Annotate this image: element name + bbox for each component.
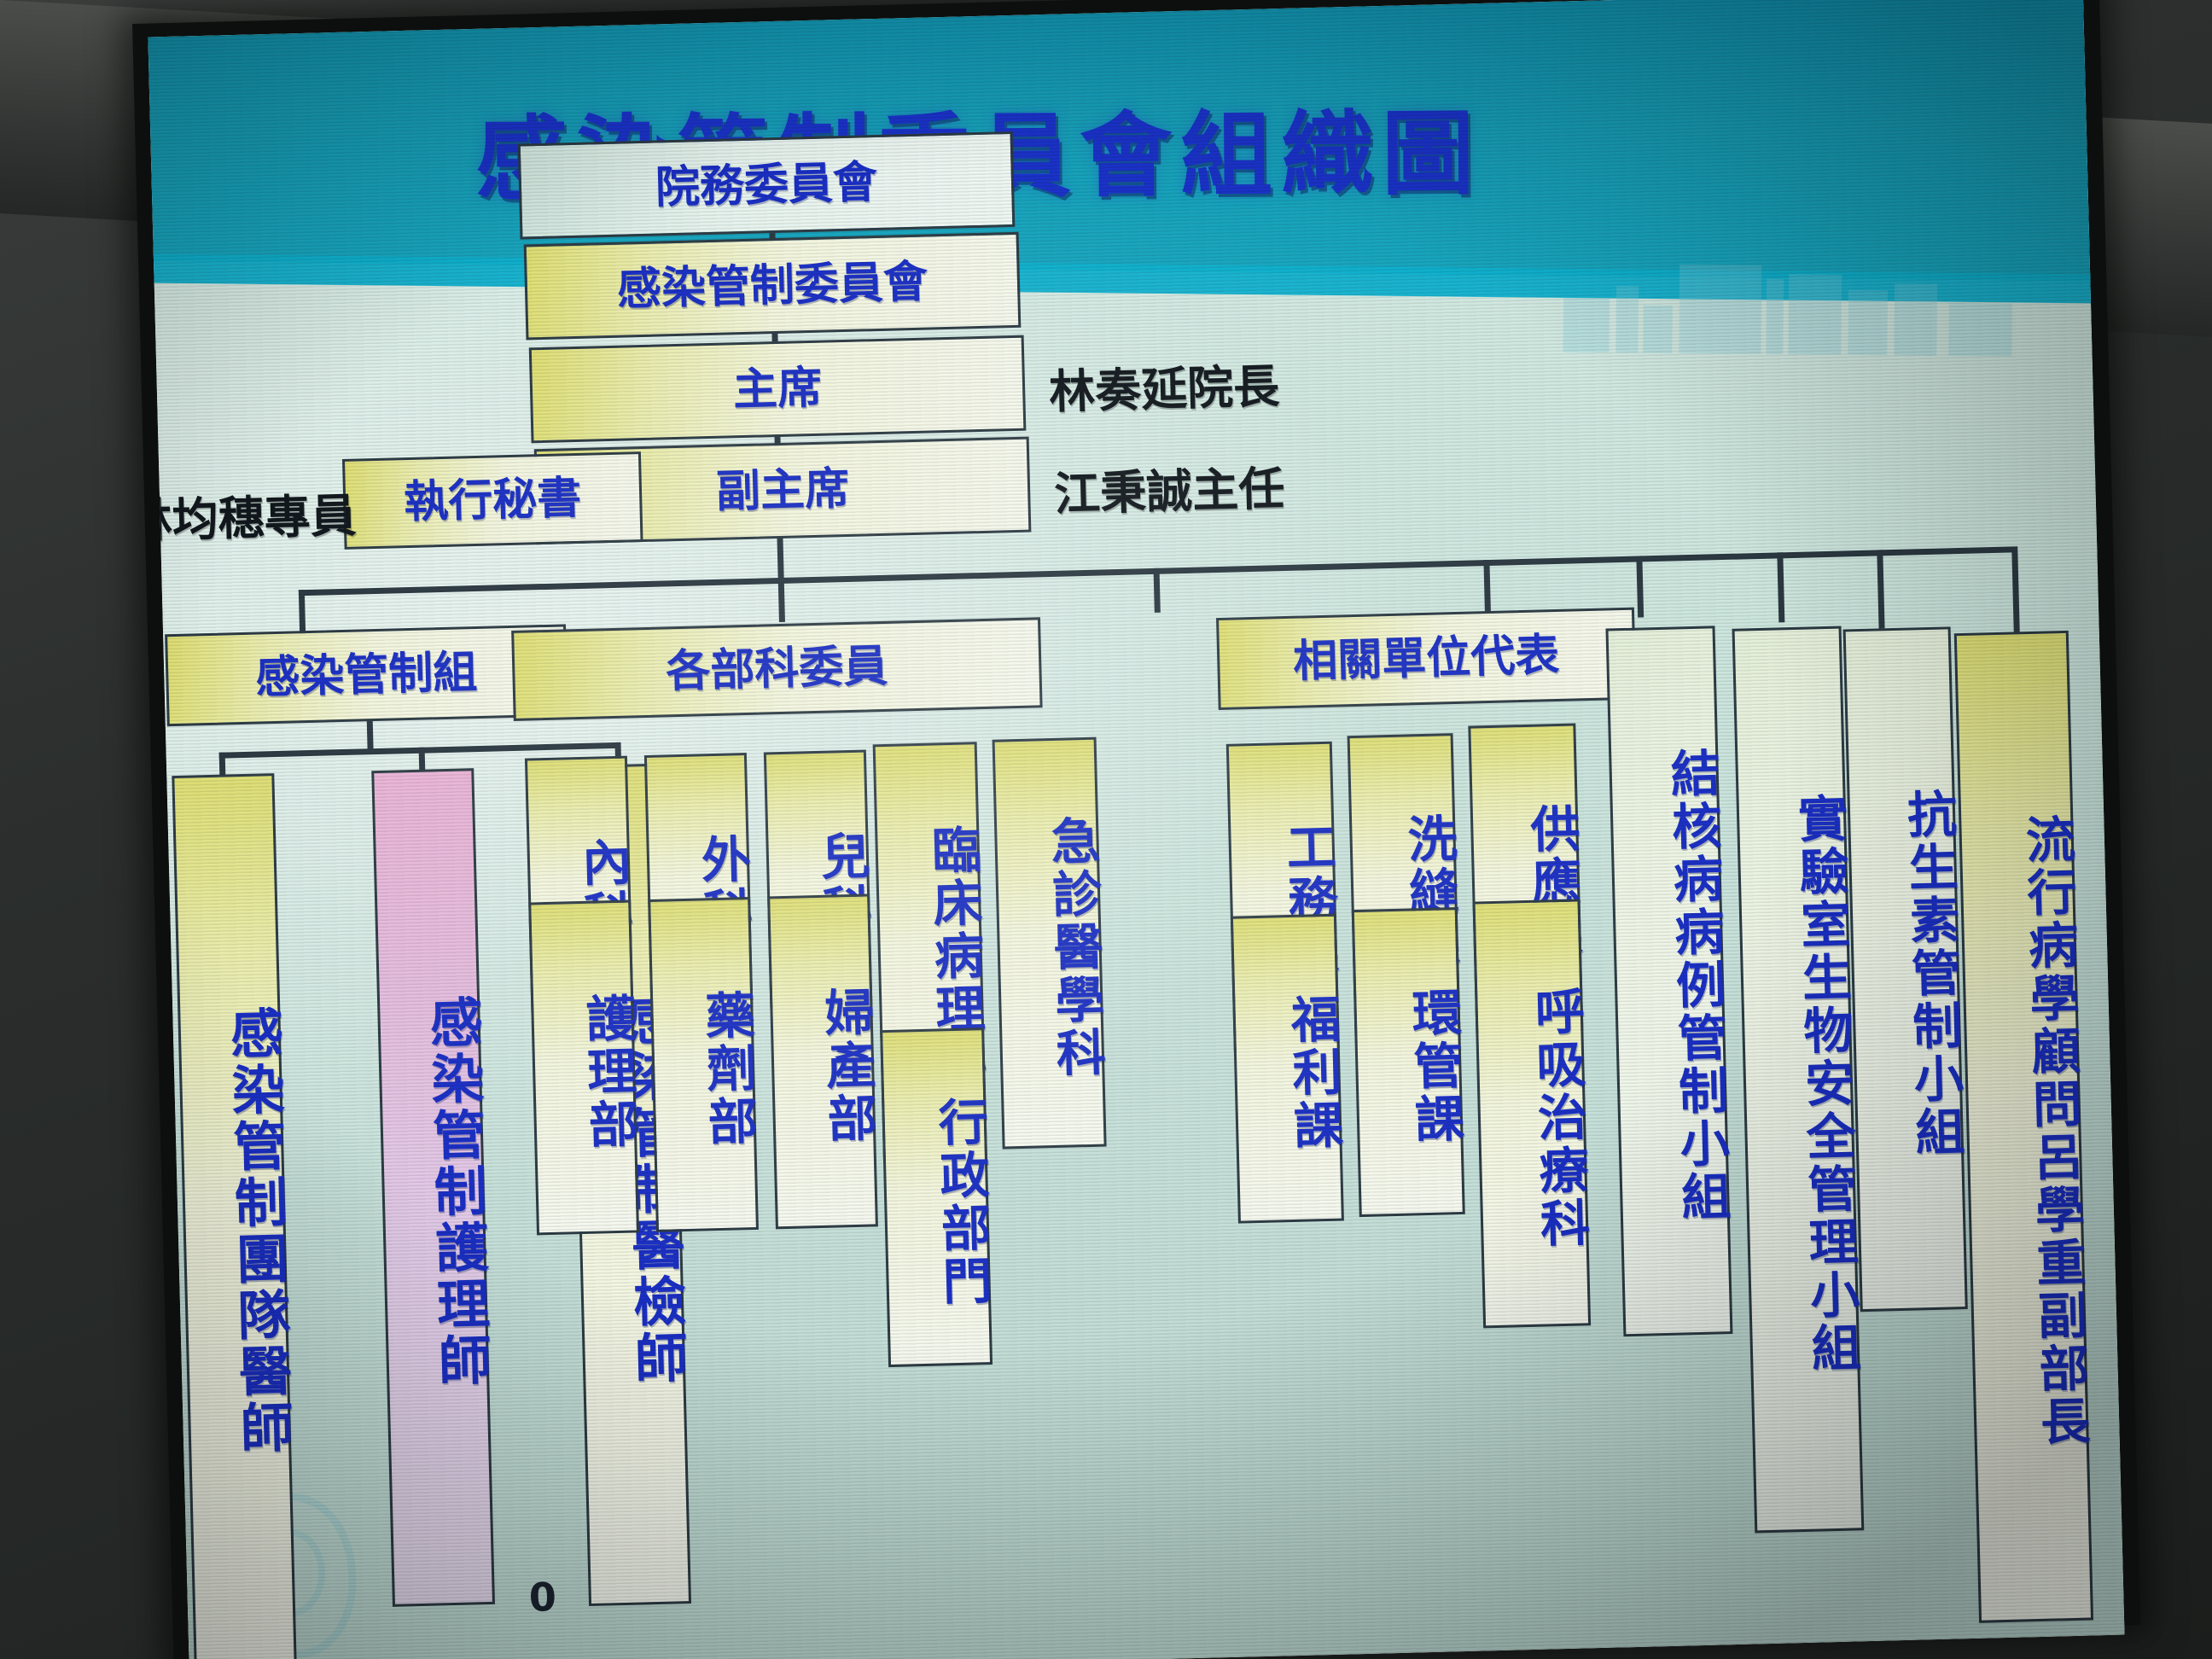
node-label: 院務委員會 (655, 158, 877, 213)
connector-line (367, 719, 374, 750)
node-label: 行政部門 (934, 1096, 988, 1308)
node-label: 各部科委員 (666, 642, 888, 697)
node-label: 流行病學顧問呂學重副部長 (2021, 813, 2087, 1449)
node-label: 呼吸治療科 (1530, 985, 1586, 1250)
connector-line (1483, 560, 1491, 613)
skyline-watermark-icon (1554, 250, 2016, 357)
node-label: 感染管制委員會 (616, 257, 928, 314)
node-label: 結核病病例管制小組 (1666, 747, 1727, 1224)
executive-secretary-name: 林均穗專員 (148, 478, 357, 551)
node-label: 抗生素管制小組 (1902, 788, 1961, 1159)
node-ic-team-physician[interactable]: 感染管制團隊醫師 (172, 773, 297, 1659)
node-label: 主席 (732, 364, 822, 416)
node-label: 福利課 (1286, 993, 1340, 1153)
vice-chairperson-name: 江秉誠主任 (1053, 451, 1285, 524)
connector-line (1636, 556, 1644, 617)
node-respiratory-therapy[interactable]: 呼吸治療科 (1473, 899, 1592, 1328)
node-label: 執行秘書 (404, 474, 582, 527)
node-related-unit-representatives[interactable]: 相關單位代表 (1216, 608, 1637, 710)
node-pharmacy-department[interactable]: 藥劑部 (648, 897, 759, 1232)
node-ic-nurse[interactable]: 感染管制護理師 (371, 768, 495, 1607)
connector-line (777, 537, 783, 579)
connector-line (1777, 552, 1784, 622)
node-tuberculosis-case-control-group[interactable]: 結核病病例管制小組 (1605, 626, 1732, 1336)
node-obstetrics-gynecology[interactable]: 婦產部 (767, 894, 878, 1229)
node-infection-control-division[interactable]: 感染管制組 (165, 624, 568, 726)
node-label: 感染管制團隊醫師 (224, 1005, 288, 1457)
connector-line (299, 590, 306, 634)
node-label: 藥劑部 (701, 989, 754, 1149)
node-label: 急診醫學科 (1046, 815, 1103, 1080)
connector-line (219, 753, 226, 777)
node-label: 感染管制組 (255, 648, 478, 703)
node-antibiotic-control-group[interactable]: 抗生素管制小組 (1843, 626, 1968, 1312)
slide-surface: 感染管制委員會組織圖 院務委員會 感染管制委員會 主席 林奏延院長 (148, 0, 2124, 1659)
node-label: 環管課 (1407, 987, 1461, 1146)
node-chairperson[interactable]: 主席 (529, 335, 1027, 444)
node-label: 相關單位代表 (1293, 631, 1560, 687)
node-emergency-medicine[interactable]: 急診醫學科 (992, 737, 1107, 1150)
node-label: 副主席 (715, 464, 849, 517)
projection-screen: 感染管制委員會組織圖 院務委員會 感染管制委員會 主席 林奏延院長 (148, 0, 2124, 1659)
node-executive-secretary[interactable]: 執行秘書 (342, 451, 643, 550)
photograph-of-projection-screen: 感染管制委員會組織圖 院務委員會 感染管制委員會 主席 林奏延院長 (0, 0, 2212, 1659)
node-label: 護理部 (581, 992, 635, 1152)
node-nursing-department[interactable]: 護理部 (528, 900, 639, 1236)
node-welfare-section[interactable]: 福利課 (1231, 914, 1344, 1224)
screen-frame: 感染管制委員會組織圖 院務委員會 感染管制委員會 主席 林奏延院長 (132, 0, 2140, 1659)
connector-line (1154, 568, 1161, 613)
node-label: 婦產部 (820, 987, 874, 1146)
connector-line (419, 748, 426, 771)
node-administration-division[interactable]: 行政部門 (880, 1027, 992, 1367)
node-epidemiology-advisor[interactable]: 流行病學顧問呂學重副部長 (1954, 631, 2093, 1623)
connector-line (2011, 546, 2020, 633)
node-infection-control-committee[interactable]: 感染管制委員會 (524, 232, 1022, 341)
node-laboratory-biosafety-management-group[interactable]: 實驗室生物安全管理小組 (1732, 626, 1865, 1534)
node-department-members[interactable]: 各部科委員 (511, 617, 1042, 721)
connector-line (778, 578, 785, 622)
node-label: 感染管制護理師 (424, 994, 487, 1389)
connector-line (1877, 550, 1884, 628)
chairperson-name: 林奏延院長 (1048, 348, 1280, 422)
node-environment-management-section[interactable]: 環管課 (1352, 907, 1465, 1217)
node-label: 實驗室生物安全管理小組 (1793, 793, 1857, 1376)
node-hospital-affairs-committee[interactable]: 院務委員會 (518, 131, 1016, 240)
stray-zero-artifact: 0 (528, 1574, 556, 1621)
